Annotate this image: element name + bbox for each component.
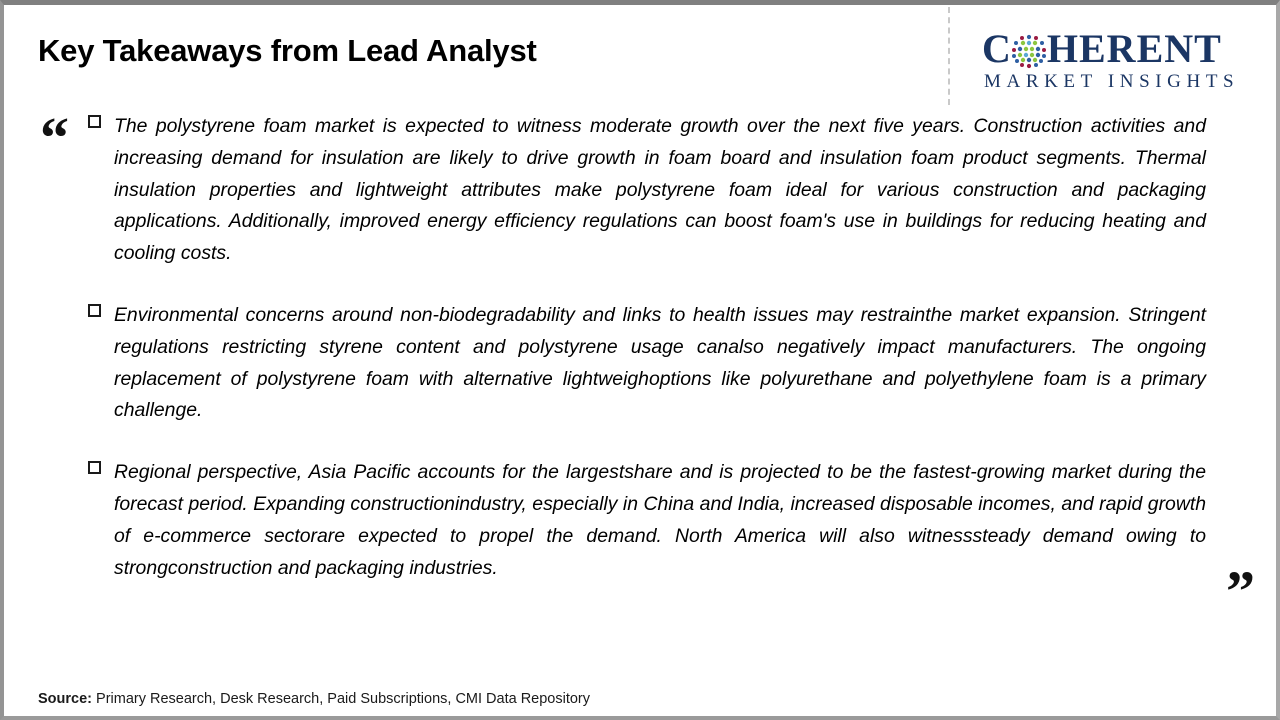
page-title: Key Takeaways from Lead Analyst [38, 33, 537, 69]
company-logo: C [982, 27, 1270, 97]
source-value: Primary Research, Desk Research, Paid Su… [92, 691, 590, 707]
takeaway-text: Environmental concerns around non-biodeg… [88, 300, 1206, 427]
takeaways-list: The polystyrene foam market is expected … [88, 111, 1206, 584]
source-label: Source: [38, 691, 92, 707]
list-item: The polystyrene foam market is expected … [88, 111, 1206, 270]
logo-letter-c: C [982, 29, 1012, 69]
list-item: Regional perspective, Asia Pacific accou… [88, 457, 1206, 584]
hollow-square-bullet-icon [88, 461, 101, 474]
takeaway-text: Regional perspective, Asia Pacific accou… [88, 457, 1206, 584]
closing-quote-icon: ” [1226, 563, 1255, 621]
logo-letters-herent: HERENT [1047, 29, 1222, 69]
opening-quote-icon: “ [40, 109, 69, 167]
hollow-square-bullet-icon [88, 304, 101, 317]
slide-body: “ The polystyrene foam market is expecte… [4, 105, 1280, 665]
source-line: Source: Primary Research, Desk Research,… [38, 691, 590, 707]
slide-header: Key Takeaways from Lead Analyst C [4, 5, 1276, 105]
logo-wordmark: C [982, 27, 1270, 71]
takeaway-text: The polystyrene foam market is expected … [88, 111, 1206, 270]
logo-tagline: MARKET INSIGHTS [984, 71, 1270, 93]
globe-dots-icon [1011, 33, 1047, 69]
hollow-square-bullet-icon [88, 115, 101, 128]
list-item: Environmental concerns around non-biodeg… [88, 300, 1206, 427]
slide-canvas: Key Takeaways from Lead Analyst C [0, 0, 1280, 720]
header-divider [948, 7, 950, 105]
